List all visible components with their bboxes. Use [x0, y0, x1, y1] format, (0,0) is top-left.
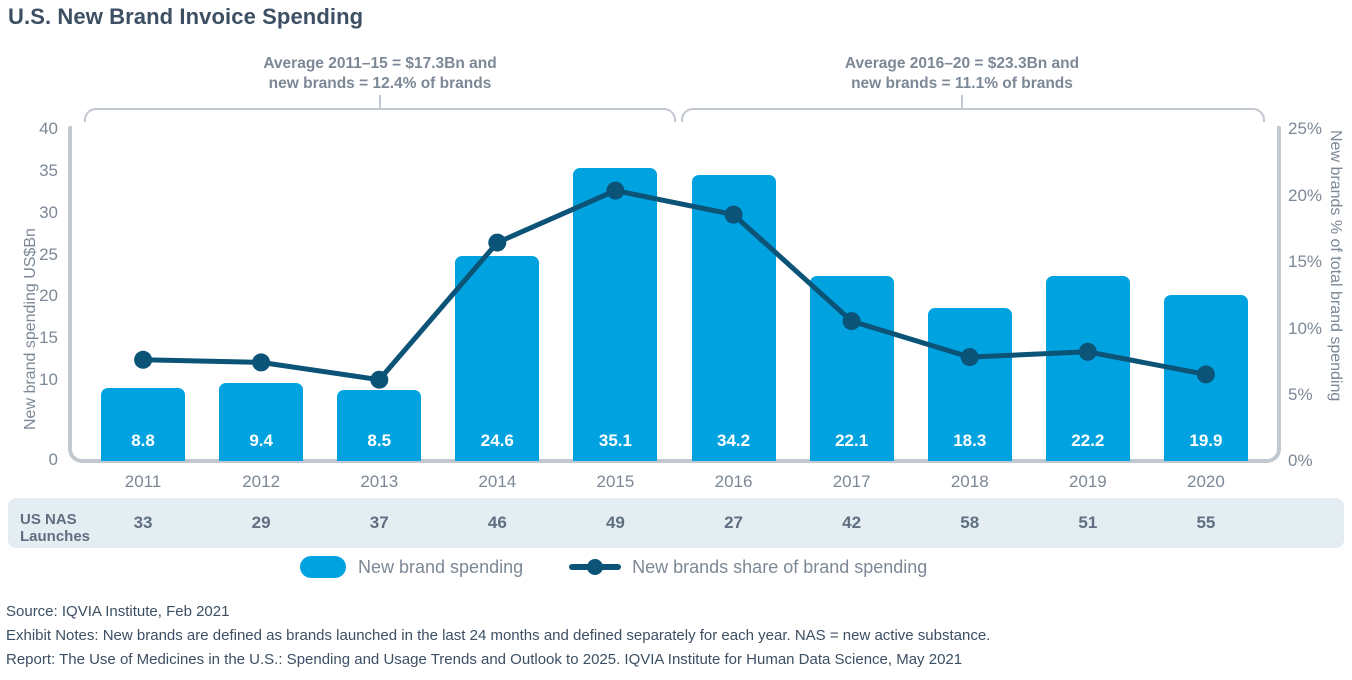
category-label-2018: 2018 [910, 472, 1030, 492]
legend-item-new-brand-spending[interactable]: New brand spending [300, 556, 523, 578]
left-tick-20: 20 [4, 286, 58, 306]
nas-value-2020: 55 [1146, 513, 1266, 533]
left-tick-0: 0 [4, 450, 58, 470]
nas-launches-label-line2: Launches [20, 528, 90, 545]
category-label-2015: 2015 [555, 472, 675, 492]
left-tick-10: 10 [4, 370, 58, 390]
bar-value-2017: 22.1 [810, 431, 894, 451]
category-label-2020: 2020 [1146, 472, 1266, 492]
left-axis-line [68, 126, 72, 448]
footer-exhibit-notes: Exhibit Notes: New brands are defined as… [6, 624, 1346, 648]
legend-item-new-brands-share[interactable]: New brands share of brand spending [569, 556, 927, 578]
bar-swatch-icon [300, 556, 346, 578]
bar-value-2019: 22.2 [1046, 431, 1130, 451]
annotation-2011-2015-line2: new brands = 12.4% of brands [90, 74, 670, 94]
page-title: U.S. New Brand Invoice Spending [8, 4, 363, 30]
right-axis-corner [1265, 447, 1281, 463]
legend-label-new-brands-share: New brands share of brand spending [632, 557, 927, 578]
share-marker-2012[interactable] [252, 353, 270, 371]
nas-value-2017: 42 [792, 513, 912, 533]
nas-launches-label-line1: US NAS [20, 511, 90, 528]
nas-value-2013: 37 [319, 513, 439, 533]
left-tick-15: 15 [4, 328, 58, 348]
legend: New brand spending New brands share of b… [300, 556, 927, 578]
share-line-layer [0, 0, 1352, 680]
footer-report: Report: The Use of Medicines in the U.S.… [6, 648, 1346, 672]
bar-2015[interactable] [573, 168, 657, 461]
category-label-2012: 2012 [201, 472, 321, 492]
annotation-2016-2020-label: Average 2016–20 = $23.3Bn and new brands… [672, 54, 1252, 94]
nas-value-2015: 49 [555, 513, 675, 533]
annotation-2011-2015-stem [379, 95, 381, 109]
annotation-2016-2020-bracket [681, 108, 1265, 122]
share-marker-2014[interactable] [488, 234, 506, 252]
right-tick-5: 5% [1288, 385, 1348, 405]
bar-value-2018: 18.3 [928, 431, 1012, 451]
nas-value-2016: 27 [674, 513, 794, 533]
bar-2016[interactable] [692, 175, 776, 461]
bar-value-2016: 34.2 [692, 431, 776, 451]
bar-value-2012: 9.4 [219, 431, 303, 451]
right-tick-0: 0% [1288, 451, 1348, 471]
bar-value-2013: 8.5 [337, 431, 421, 451]
left-tick-25: 25 [4, 245, 58, 265]
annotation-2016-2020-line2: new brands = 11.1% of brands [672, 74, 1252, 94]
nas-value-2011: 33 [83, 513, 203, 533]
legend-label-new-brand-spending: New brand spending [358, 557, 523, 578]
category-label-2019: 2019 [1028, 472, 1148, 492]
nas-launches-label: US NAS Launches [20, 511, 90, 545]
annotation-2011-2015-bracket [84, 108, 676, 122]
nas-value-2019: 51 [1028, 513, 1148, 533]
right-tick-15: 15% [1288, 252, 1348, 272]
annotation-2011-2015-line1: Average 2011–15 = $17.3Bn and [90, 54, 670, 74]
category-label-2011: 2011 [83, 472, 203, 492]
bar-value-2014: 24.6 [455, 431, 539, 451]
left-tick-40: 40 [4, 119, 58, 139]
left-tick-35: 35 [4, 161, 58, 181]
annotation-2016-2020-stem [961, 95, 963, 109]
category-label-2016: 2016 [674, 472, 794, 492]
category-label-2014: 2014 [437, 472, 557, 492]
line-swatch-icon [569, 556, 621, 578]
bar-value-2011: 8.8 [101, 431, 185, 451]
bar-value-2015: 35.1 [573, 431, 657, 451]
right-tick-25: 25% [1288, 119, 1348, 139]
annotation-2011-2015-label: Average 2011–15 = $17.3Bn and new brands… [90, 54, 670, 94]
left-axis-corner [68, 447, 84, 463]
right-tick-10: 10% [1288, 319, 1348, 339]
share-marker-2011[interactable] [134, 351, 152, 369]
footer-source: Source: IQVIA Institute, Feb 2021 [6, 600, 1346, 624]
chart-root: U.S. New Brand Invoice Spending Average … [0, 0, 1352, 680]
nas-value-2012: 29 [201, 513, 321, 533]
category-label-2017: 2017 [792, 472, 912, 492]
nas-value-2014: 46 [437, 513, 557, 533]
category-label-2013: 2013 [319, 472, 439, 492]
share-marker-2013[interactable] [370, 371, 388, 389]
annotation-2016-2020-line1: Average 2016–20 = $23.3Bn and [672, 54, 1252, 74]
footer: Source: IQVIA Institute, Feb 2021 Exhibi… [6, 600, 1346, 672]
right-axis-line [1277, 126, 1281, 448]
nas-value-2018: 58 [910, 513, 1030, 533]
left-tick-30: 30 [4, 203, 58, 223]
bar-value-2020: 19.9 [1164, 431, 1248, 451]
right-tick-20: 20% [1288, 186, 1348, 206]
